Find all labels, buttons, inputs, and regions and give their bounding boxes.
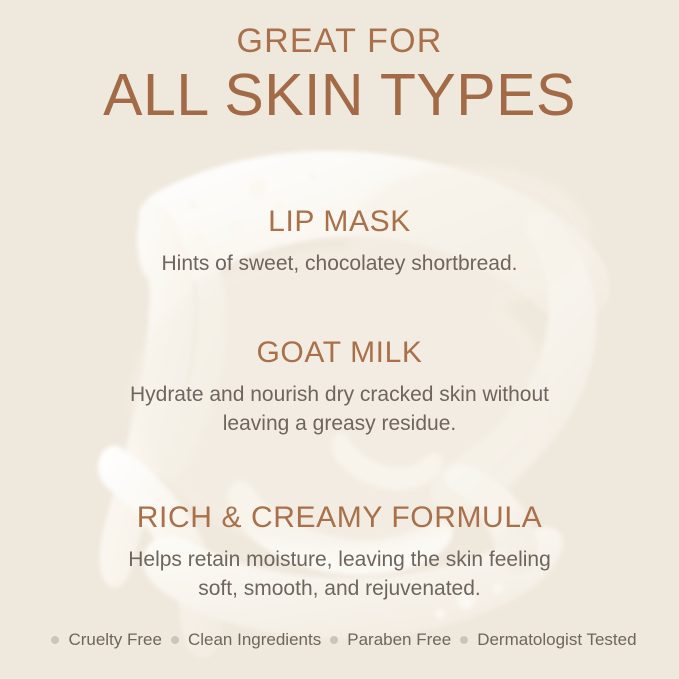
benefit-block-goat-milk: GOAT MILK Hydrate and nourish dry cracke… bbox=[0, 336, 679, 439]
benefit-description-lip-mask: Hints of sweet, chocolatey shortbread. bbox=[60, 249, 620, 279]
benefit-description-line: leaving a greasy residue. bbox=[60, 409, 620, 439]
bullet-dot-icon bbox=[171, 636, 179, 644]
bullet-dot-icon bbox=[330, 636, 338, 644]
claim-dermatologist-tested: Dermatologist Tested bbox=[477, 631, 636, 648]
claim-clean-ingredients: Clean Ingredients bbox=[188, 631, 321, 648]
benefit-description-line: Helps retain moisture, leaving the skin … bbox=[60, 545, 620, 575]
product-benefits-poster: GREAT FOR ALL SKIN TYPES LIP MASK Hints … bbox=[0, 0, 679, 679]
bullet-dot-icon bbox=[51, 636, 59, 644]
benefit-title-rich-creamy-formula: RICH & CREAMY FORMULA bbox=[0, 501, 679, 536]
benefit-description-line: Hydrate and nourish dry cracked skin wit… bbox=[60, 380, 620, 410]
benefit-description-line: Hints of sweet, chocolatey shortbread. bbox=[60, 249, 620, 279]
claims-strip: Cruelty Free Clean Ingredients Paraben F… bbox=[0, 631, 679, 648]
benefit-description-goat-milk: Hydrate and nourish dry cracked skin wit… bbox=[60, 380, 620, 440]
benefit-block-lip-mask: LIP MASK Hints of sweet, chocolatey shor… bbox=[0, 205, 679, 278]
poster-header: GREAT FOR ALL SKIN TYPES bbox=[0, 22, 679, 128]
benefit-description-line: soft, smooth, and rejuvenated. bbox=[60, 574, 620, 604]
benefit-title-lip-mask: LIP MASK bbox=[0, 205, 679, 240]
bullet-dot-icon bbox=[460, 636, 468, 644]
poster-content: GREAT FOR ALL SKIN TYPES LIP MASK Hints … bbox=[0, 0, 679, 679]
claim-cruelty-free: Cruelty Free bbox=[68, 631, 162, 648]
header-kicker: GREAT FOR bbox=[0, 22, 679, 60]
benefit-description-rich-creamy-formula: Helps retain moisture, leaving the skin … bbox=[60, 545, 620, 605]
page-title: ALL SKIN TYPES bbox=[0, 64, 679, 128]
benefit-block-rich-creamy-formula: RICH & CREAMY FORMULA Helps retain moist… bbox=[0, 501, 679, 604]
claim-paraben-free: Paraben Free bbox=[347, 631, 451, 648]
benefit-title-goat-milk: GOAT MILK bbox=[0, 336, 679, 371]
